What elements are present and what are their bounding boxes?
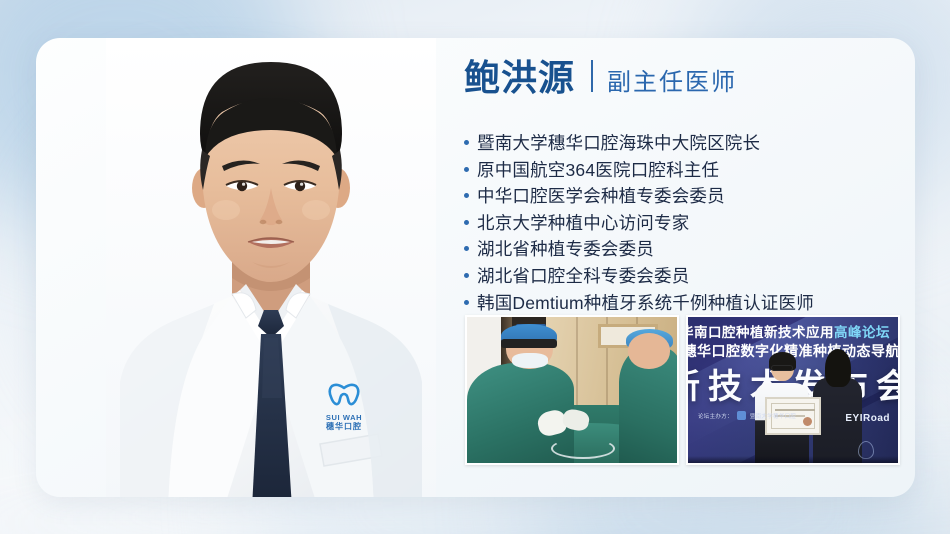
doctor-profile-card: SUI WAH 穗华口腔 鲍洪源 副主任医师 暨南大学穗华口腔海珠中大院区院长 … [36,38,915,497]
bullet-dot-icon [464,167,469,172]
clinic-logo: SUI WAH 穗华口腔 [302,383,386,431]
name-title-divider [591,60,593,92]
bullet-dot-icon [464,273,469,278]
clinic-logo-cn: 穗华口腔 [302,422,386,431]
sponsor-logo-icon [737,411,746,420]
credential-text: 暨南大学穗华口腔海珠中大院区院长 [477,130,760,157]
photo-strip: 华南口腔种植新技术应用高峰论坛 大穗华口腔数字化精准种植动态导航 新技术发布会 [465,315,900,465]
credential-text: 湖北省种植专委会委员 [477,236,654,263]
portrait-illustration [106,38,436,497]
ceremony-scene: 华南口腔种植新技术应用高峰论坛 大穗华口腔数字化精准种植动态导航 新技术发布会 [686,315,900,465]
bullet-dot-icon [464,193,469,198]
surgery-photo[interactable] [465,315,679,465]
slide-stage: SUI WAH 穗华口腔 鲍洪源 副主任医师 暨南大学穗华口腔海珠中大院区院长 … [0,0,950,534]
list-item: 暨南大学穗华口腔海珠中大院区院长 [464,130,904,157]
ceremony-photo[interactable]: 华南口腔种植新技术应用高峰论坛 大穗华口腔数字化精准种植动态导航 新技术发布会 [686,315,900,465]
list-item: 湖北省口腔全科专委会委员 [464,263,904,290]
doctor-name: 鲍洪源 [464,60,575,96]
surgery-scene [465,315,679,465]
doctor-info: 鲍洪源 副主任医师 暨南大学穗华口腔海珠中大院区院长 原中国航空364医院口腔科… [464,58,904,316]
list-item: 北京大学种植中心访问专家 [464,210,904,237]
banner-line-1: 华南口腔种植新技术应用高峰论坛 [686,321,890,341]
credential-text: 原中国航空364医院口腔科主任 [477,157,719,184]
list-item: 湖北省种植专委会委员 [464,236,904,263]
bullet-dot-icon [464,220,469,225]
bullet-dot-icon [464,300,469,305]
clinic-logo-latin: SUI WAH [302,413,386,422]
banner-brand-mark: EYIRoad [845,413,890,424]
credential-text: 湖北省口腔全科专委会委员 [477,263,689,290]
doctor-name-row: 鲍洪源 副主任医师 [464,58,904,116]
credentials-list: 暨南大学穗华口腔海珠中大院区院长 原中国航空364医院口腔科主任 中华口腔医学会… [464,130,904,316]
list-item: 中华口腔医学会种植专委会委员 [464,183,904,210]
doctor-title: 副主任医师 [607,71,737,95]
bullet-dot-icon [464,246,469,251]
credential-text: 中华口腔医学会种植专委会委员 [477,183,725,210]
credential-text: 北京大学种植中心访问专家 [477,210,689,237]
list-item: 原中国航空364医院口腔科主任 [464,157,904,184]
doctor-portrait: SUI WAH 穗华口腔 [106,38,436,497]
list-item: 韩国Demtium种植牙系统千例种植认证医师 [464,290,904,317]
bullet-dot-icon [464,140,469,145]
tooth-icon [327,383,361,407]
banner-sponsor: 论坛主办方： 暨南大学穗华口腔 [698,411,796,420]
credential-text: 韩国Demtium种植牙系统千例种植认证医师 [477,290,814,317]
